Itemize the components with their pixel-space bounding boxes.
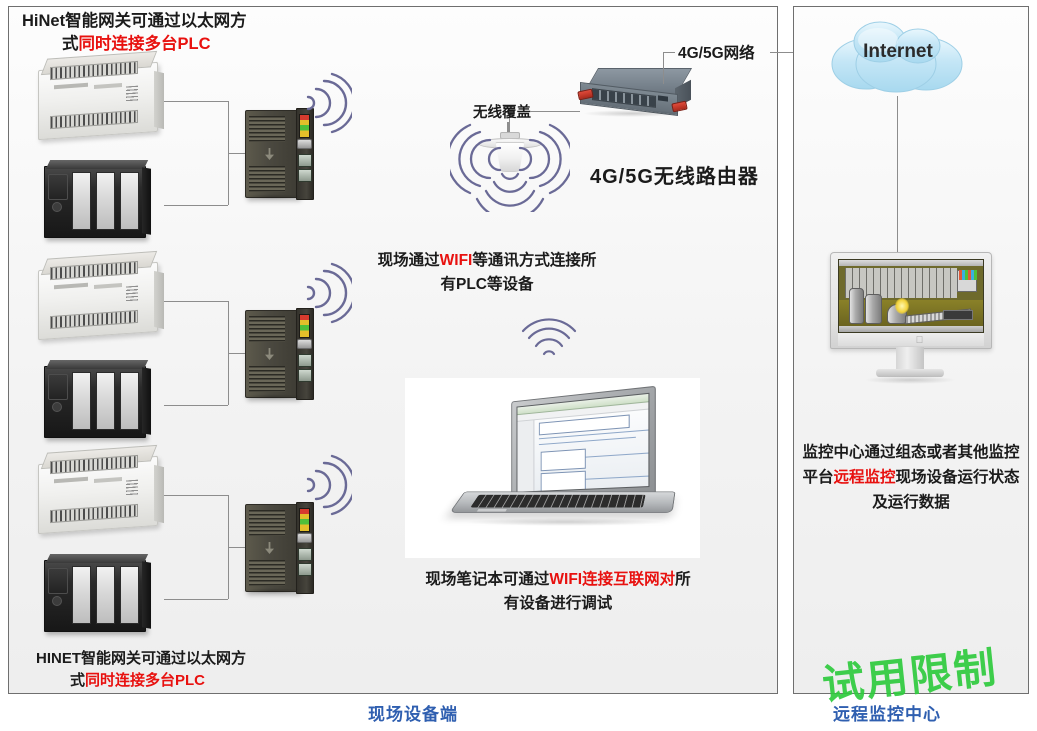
scada-screen xyxy=(838,259,984,333)
footer-note-line2-black: 式 xyxy=(70,672,85,689)
wifi-signal-icon xyxy=(298,68,352,143)
wifi-note-red: WIFI xyxy=(440,252,473,269)
laptop-note: 现场笔记本可通过WIFI连接互联网对所有设备进行调试 xyxy=(418,568,698,616)
plc-black-device xyxy=(44,162,164,242)
footer-note-line1: HINET智能网关可通过以太网方 xyxy=(36,650,246,667)
plc-gateway-group-3 xyxy=(26,452,326,637)
internet-cloud-label: Internet xyxy=(822,14,974,96)
header-note: HiNet智能网关可通过以太网方 式同时连接多台PLC xyxy=(22,10,352,56)
wifi-note-plc: PLC xyxy=(456,276,487,293)
field-panel-caption: 现场设备端 xyxy=(368,700,458,725)
wifi-signal-icon xyxy=(298,258,352,333)
monitoring-workstation:  xyxy=(820,252,1000,392)
plc-black-device xyxy=(44,556,164,636)
network-4g5g-label: 4G/5G网络 xyxy=(678,41,755,63)
remote-monitoring-note: 监控中心通过组态或者其他监控平台远程监控现场设备运行状态及运行数据 xyxy=(800,440,1022,515)
rc-note-line1: 监控中心通过组态或者其他 xyxy=(802,444,988,461)
laptop-note-red: WIFI连接互联网对 xyxy=(549,571,675,588)
footer-note-line2-red: 同时连接多台PLC xyxy=(85,672,205,689)
plc-white-device xyxy=(38,452,168,537)
plc-white-device xyxy=(38,258,168,343)
wifi-note-part5: 等设备 xyxy=(487,276,534,293)
4g5g-router-device xyxy=(576,62,696,130)
engineer-laptop-device xyxy=(405,378,700,558)
rc-note-line2b: 现场设备 xyxy=(896,469,958,486)
wifi-signal-icon xyxy=(298,450,352,525)
plc-gateway-group-1 xyxy=(26,58,326,243)
wifi-fan-icon xyxy=(518,312,580,375)
rc-note-red: 远程监控 xyxy=(833,469,895,486)
header-note-line1: HiNet智能网关可通过以太网方 xyxy=(22,12,247,30)
apple-logo-icon:  xyxy=(915,336,924,346)
wireless-coverage-label: 无线覆盖 xyxy=(473,101,531,122)
laptop-note-part1: 现场笔记本可通过 xyxy=(425,571,549,588)
remote-panel-caption: 远程监控中心 xyxy=(833,700,941,725)
ap-wave-down-icon xyxy=(466,166,554,217)
internet-cloud: Internet xyxy=(822,14,974,96)
plc-white-device xyxy=(38,58,168,143)
wifi-connection-note: 现场通过WIFI等通讯方式连接所有PLC等设备 xyxy=(372,249,602,297)
plc-black-device xyxy=(44,362,164,442)
wifi-note-part1: 现场通过 xyxy=(378,252,440,269)
footer-note: HINET智能网关可通过以太网方 式同时连接多台PLC xyxy=(36,648,366,692)
diagram-canvas: HiNet智能网关可通过以太网方 式同时连接多台PLC HINET智能网关可通过… xyxy=(0,0,1037,731)
header-note-line2-black: 式 xyxy=(62,35,79,53)
header-note-line2-red: 同时连接多台PLC xyxy=(79,35,211,53)
plc-gateway-group-2 xyxy=(26,258,326,443)
router-name-label: 4G/5G无线路由器 xyxy=(590,160,759,189)
